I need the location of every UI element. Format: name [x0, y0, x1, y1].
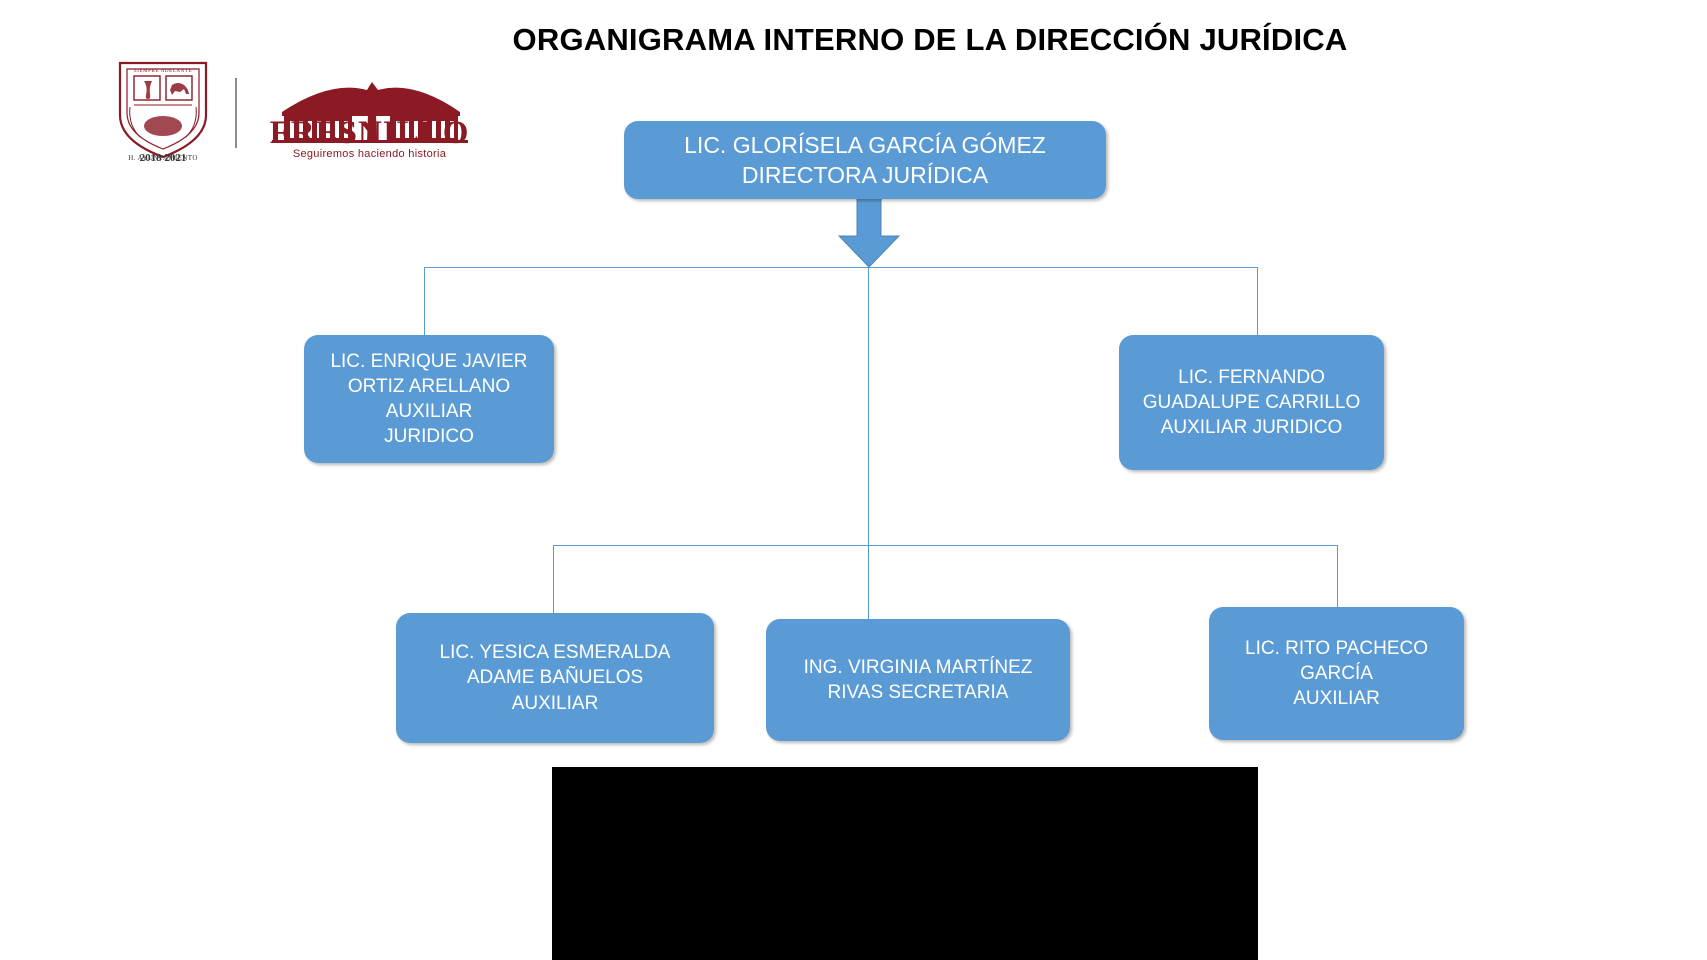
fresnillo-logo-icon: FRESNILLO Seguiremos haciendo historia — [262, 72, 477, 160]
org-node-auxiliar-rito[interactable]: LIC. RITO PACHECO GARCÍA AUXILIAR — [1209, 607, 1464, 740]
node-line: AUXILIAR — [1219, 686, 1454, 711]
fresnillo-tagline: Seguiremos haciendo historia — [262, 148, 477, 160]
node-line: LIC. RITO PACHECO — [1219, 636, 1454, 661]
node-line: AUXILIAR — [406, 691, 704, 716]
org-node-auxiliar-yesica[interactable]: LIC. YESICA ESMERALDA ADAME BAÑUELOS AUX… — [396, 613, 714, 743]
node-line: ADAME BAÑUELOS — [406, 665, 704, 690]
node-line: ING. VIRGINIA MARTÍNEZ — [776, 655, 1060, 680]
organigrama-slide: ORGANIGRAMA INTERNO DE LA DIRECCIÓN JURÍ… — [0, 0, 1707, 960]
node-line: LIC. FERNANDO — [1129, 365, 1374, 390]
shield-caption-year: 2018 2021 — [108, 152, 218, 164]
svg-text:SIEMPRE ADELANTE: SIEMPRE ADELANTE — [134, 69, 192, 74]
node-line: AUXILIAR JURIDICO — [1129, 415, 1374, 440]
node-line: LIC. ENRIQUE JAVIER — [314, 349, 544, 374]
connector-drop-left-level3 — [553, 545, 554, 619]
node-line: LIC. GLORÍSELA GARCÍA GÓMEZ — [634, 130, 1096, 160]
node-line: GARCÍA — [1219, 661, 1454, 686]
connector-drop-right-level2 — [1257, 267, 1258, 335]
connector-drop-center-level3 — [868, 545, 869, 619]
org-node-auxiliar-juridico-enrique[interactable]: LIC. ENRIQUE JAVIER ORTIZ ARELLANO AUXIL… — [304, 335, 554, 463]
node-line: GUADALUPE CARRILLO — [1129, 390, 1374, 415]
fresnillo-wordmark: FRESNILLO — [262, 115, 477, 152]
node-line: DIRECTORA JURÍDICA — [634, 160, 1096, 190]
logo-divider — [235, 78, 237, 148]
page-title: ORGANIGRAMA INTERNO DE LA DIRECCIÓN JURÍ… — [420, 22, 1440, 58]
org-node-auxiliar-juridico-fernando[interactable]: LIC. FERNANDO GUADALUPE CARRILLO AUXILIA… — [1119, 335, 1384, 470]
org-node-secretaria-virginia[interactable]: ING. VIRGINIA MARTÍNEZ RIVAS SECRETARIA — [766, 619, 1070, 741]
org-node-directora-juridica[interactable]: LIC. GLORÍSELA GARCÍA GÓMEZ DIRECTORA JU… — [624, 121, 1106, 199]
connector-bus-level3 — [553, 545, 1338, 546]
node-line: LIC. YESICA ESMERALDA — [406, 640, 704, 665]
node-line: RIVAS SECRETARIA — [776, 680, 1060, 705]
redaction-bar — [552, 767, 1258, 960]
node-line: AUXILIAR — [314, 399, 544, 424]
connector-drop-left-level2 — [424, 267, 425, 335]
coat-of-arms-shield-icon: SIEMPRE ADELANTE H. AYUNTAMIENTO 2018 20… — [108, 57, 218, 165]
connector-spine-center — [868, 267, 869, 546]
node-line: JURIDICO — [314, 424, 544, 449]
down-block-arrow-icon — [838, 196, 900, 268]
node-line: ORTIZ ARELLANO — [314, 374, 544, 399]
